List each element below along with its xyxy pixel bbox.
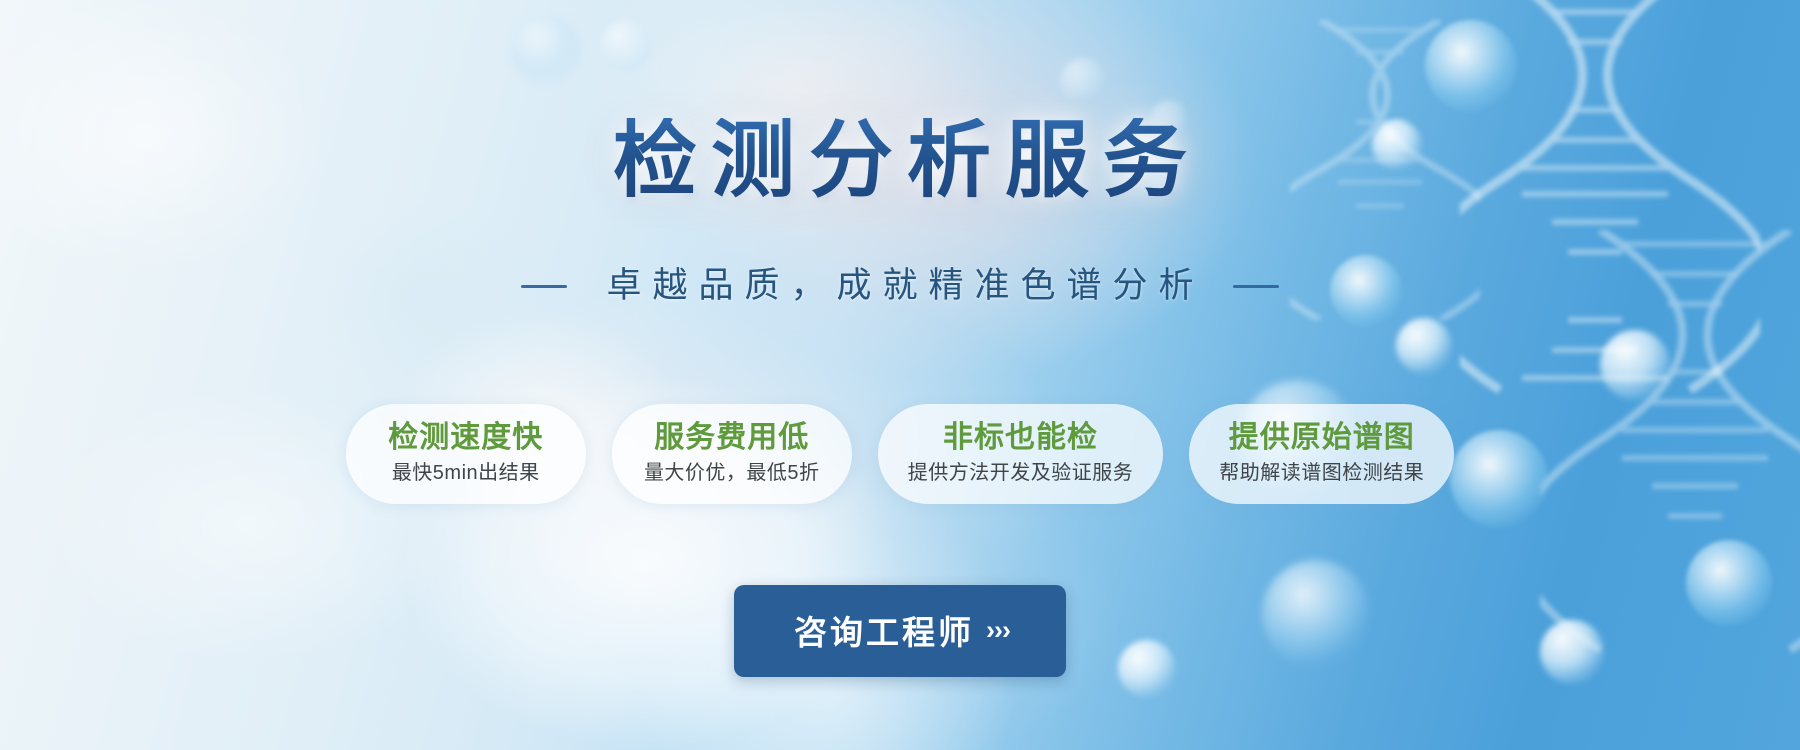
feature-pill-nonstandard[interactable]: 非标也能检 提供方法开发及验证服务 bbox=[878, 404, 1164, 504]
feature-subtitle: 量大价优，最低5折 bbox=[642, 461, 822, 486]
feature-subtitle: 提供方法开发及验证服务 bbox=[908, 461, 1134, 486]
cta-label: 咨询工程师 bbox=[794, 606, 974, 654]
feature-title: 服务费用低 bbox=[642, 420, 822, 457]
feature-title: 检测速度快 bbox=[376, 420, 556, 457]
feature-pill-spectra[interactable]: 提供原始谱图 帮助解读谱图检测结果 bbox=[1189, 404, 1454, 504]
dash-left-icon bbox=[521, 285, 567, 288]
subtitle-row: 卓越品质，成就精准色谱分析 bbox=[0, 265, 1800, 307]
banner-content: 检测分析服务 卓越品质，成就精准色谱分析 检测速度快 最快5min出结果 服务费… bbox=[0, 0, 1800, 750]
feature-subtitle: 最快5min出结果 bbox=[376, 461, 556, 486]
cta-row: 咨询工程师 ››› bbox=[0, 585, 1800, 677]
promo-banner: 检测分析服务 卓越品质，成就精准色谱分析 检测速度快 最快5min出结果 服务费… bbox=[0, 0, 1800, 750]
feature-subtitle: 帮助解读谱图检测结果 bbox=[1219, 461, 1424, 486]
chevron-right-triple-icon: ››› bbox=[986, 617, 1010, 644]
page-subtitle: 卓越品质，成就精准色谱分析 bbox=[595, 265, 1204, 307]
consult-engineer-button[interactable]: 咨询工程师 ››› bbox=[734, 585, 1066, 677]
dash-right-icon bbox=[1233, 285, 1279, 288]
feature-title: 非标也能检 bbox=[908, 420, 1134, 457]
feature-pill-list: 检测速度快 最快5min出结果 服务费用低 量大价优，最低5折 非标也能检 提供… bbox=[0, 404, 1800, 504]
feature-title: 提供原始谱图 bbox=[1219, 420, 1424, 457]
feature-pill-speed[interactable]: 检测速度快 最快5min出结果 bbox=[346, 404, 586, 504]
feature-pill-price[interactable]: 服务费用低 量大价优，最低5折 bbox=[612, 404, 852, 504]
page-title: 检测分析服务 bbox=[0, 118, 1800, 202]
